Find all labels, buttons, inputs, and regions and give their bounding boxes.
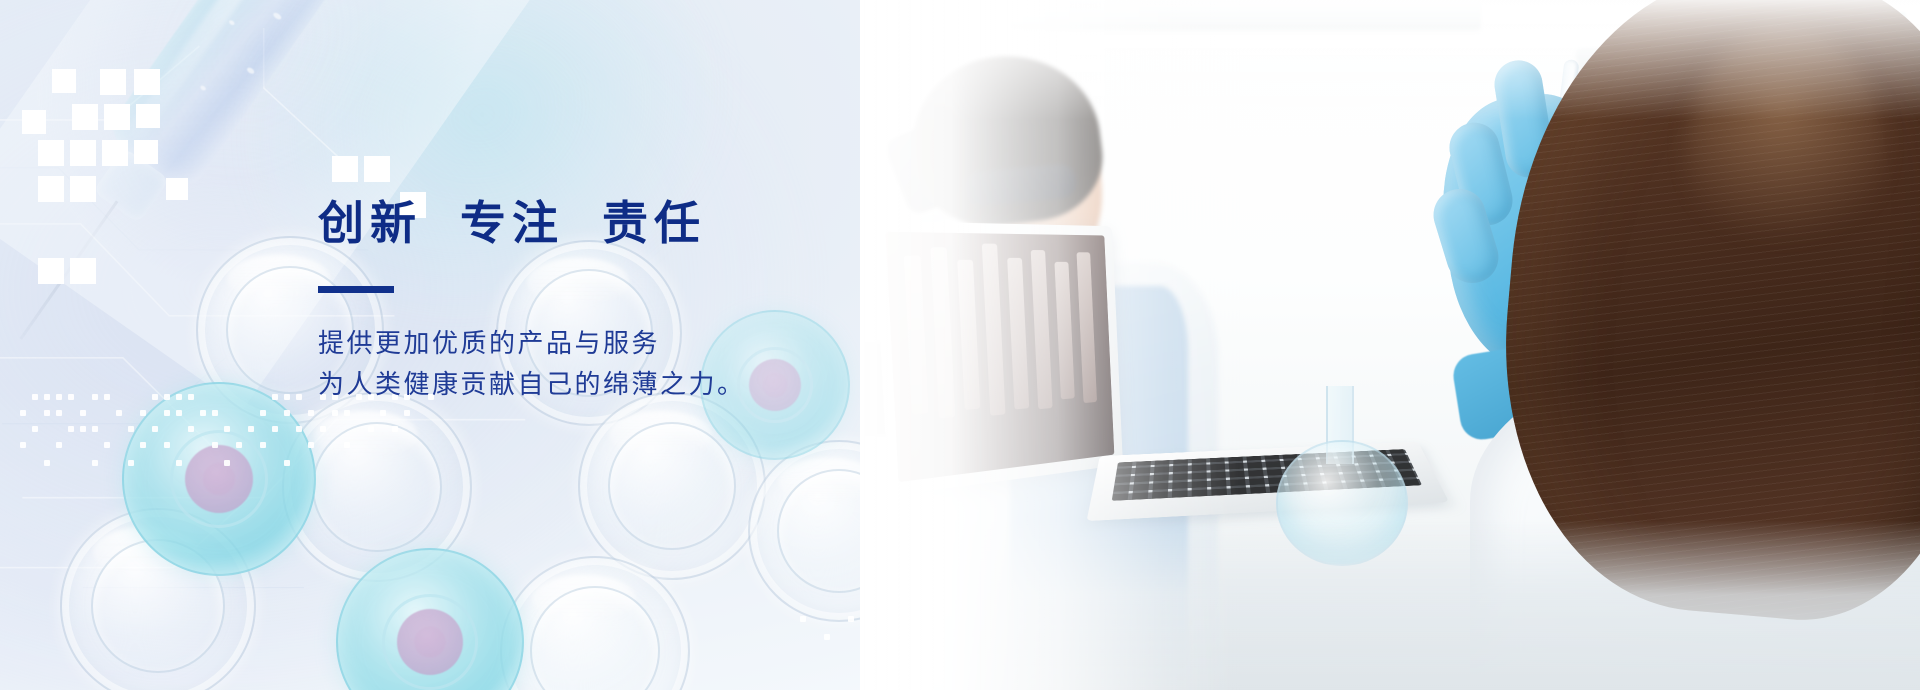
headline-word-3: 责任 — [602, 197, 706, 249]
page-title: 创新专注责任 — [318, 196, 958, 250]
subtitle-line-2: 为人类健康贡献自己的绵薄之力。 — [318, 364, 958, 405]
petri-dish-core — [397, 609, 463, 675]
dot-grid-decoration — [14, 388, 494, 508]
title-divider — [318, 286, 394, 293]
subtitle-line-1: 提供更加优质的产品与服务 — [318, 323, 958, 364]
headline-word-1: 创新 — [318, 197, 422, 249]
laboratory-photo — [860, 0, 1920, 690]
banner-text-block: 创新专注责任 提供更加优质的产品与服务 为人类健康贡献自己的绵薄之力。 — [318, 196, 958, 405]
headline-word-2: 专注 — [460, 197, 564, 249]
hero-banner: 创新专注责任 提供更加优质的产品与服务 为人类健康贡献自己的绵薄之力。 — [0, 0, 1920, 690]
